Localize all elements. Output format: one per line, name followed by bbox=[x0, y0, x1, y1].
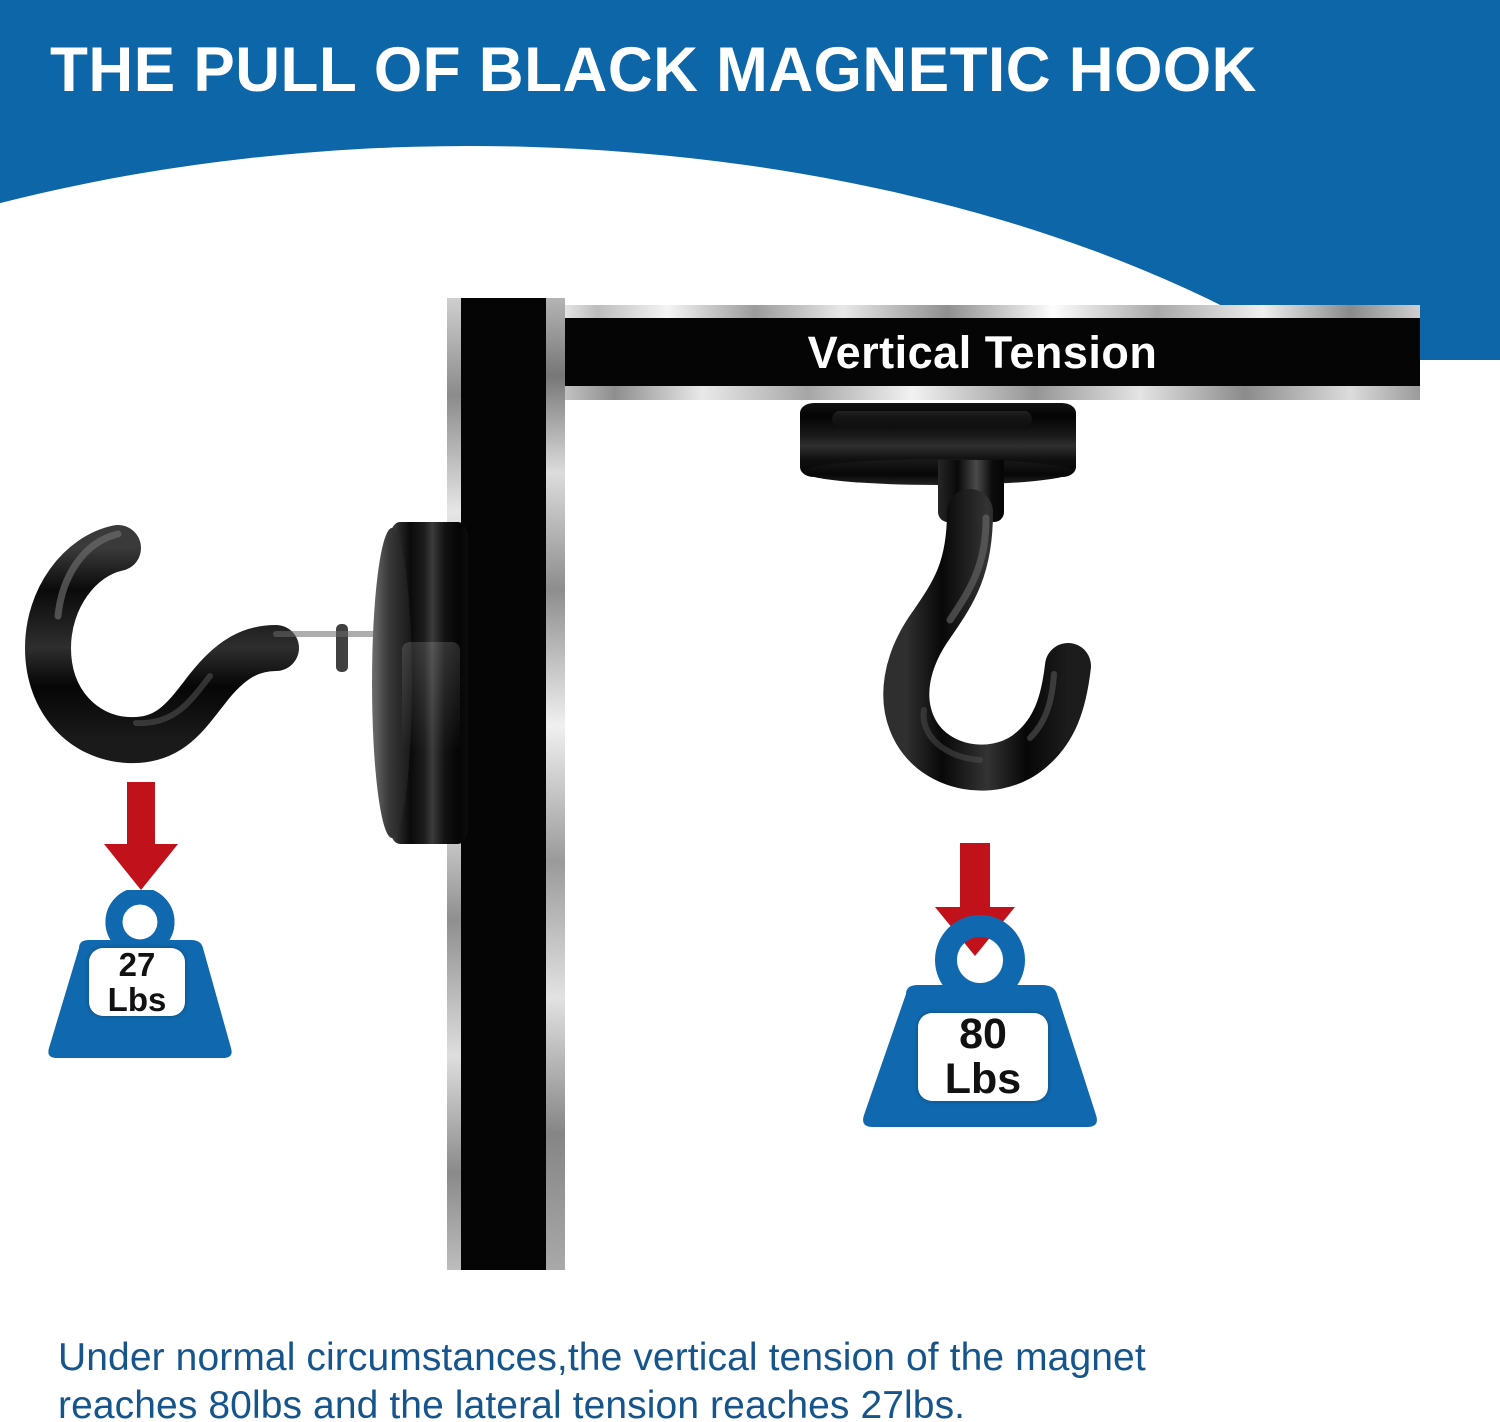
caption-line-1: Under normal circumstances,the vertical … bbox=[58, 1334, 1453, 1382]
weight-value: 27 bbox=[119, 948, 156, 981]
down-arrow-icon bbox=[100, 782, 182, 892]
horizontal-tension-label-wrap: Horizontal Tension bbox=[461, 298, 549, 1270]
caption-line-2: reaches 80lbs and the lateral tension re… bbox=[58, 1382, 1453, 1422]
weight-value: 80 bbox=[959, 1013, 1007, 1056]
weight-value-plate: 80 Lbs bbox=[918, 1013, 1048, 1101]
magnet-gloss-highlight bbox=[832, 411, 1032, 427]
weight-icon-27lbs: 27 Lbs bbox=[45, 890, 250, 1065]
caption-text: Under normal circumstances,the vertical … bbox=[58, 1334, 1453, 1422]
horizontal-black-hook bbox=[18, 520, 418, 810]
page-title: THE PULL OF BLACK MAGNETIC HOOK bbox=[50, 36, 1459, 104]
infographic-canvas: THE PULL OF BLACK MAGNETIC HOOK Vertical… bbox=[0, 0, 1500, 1422]
vertical-black-hook bbox=[850, 460, 1140, 840]
ceiling-beam-bottom-edge bbox=[545, 386, 1420, 400]
weight-unit: Lbs bbox=[945, 1058, 1021, 1101]
ceiling-beam-top-edge bbox=[545, 305, 1420, 319]
ceiling-beam: Vertical Tension bbox=[545, 305, 1420, 400]
weight-value-plate: 27 Lbs bbox=[89, 948, 185, 1016]
weight-icon-80lbs: 80 Lbs bbox=[860, 915, 1120, 1135]
vertical-tension-label: Vertical Tension bbox=[545, 318, 1420, 388]
weight-unit: Lbs bbox=[108, 983, 167, 1016]
